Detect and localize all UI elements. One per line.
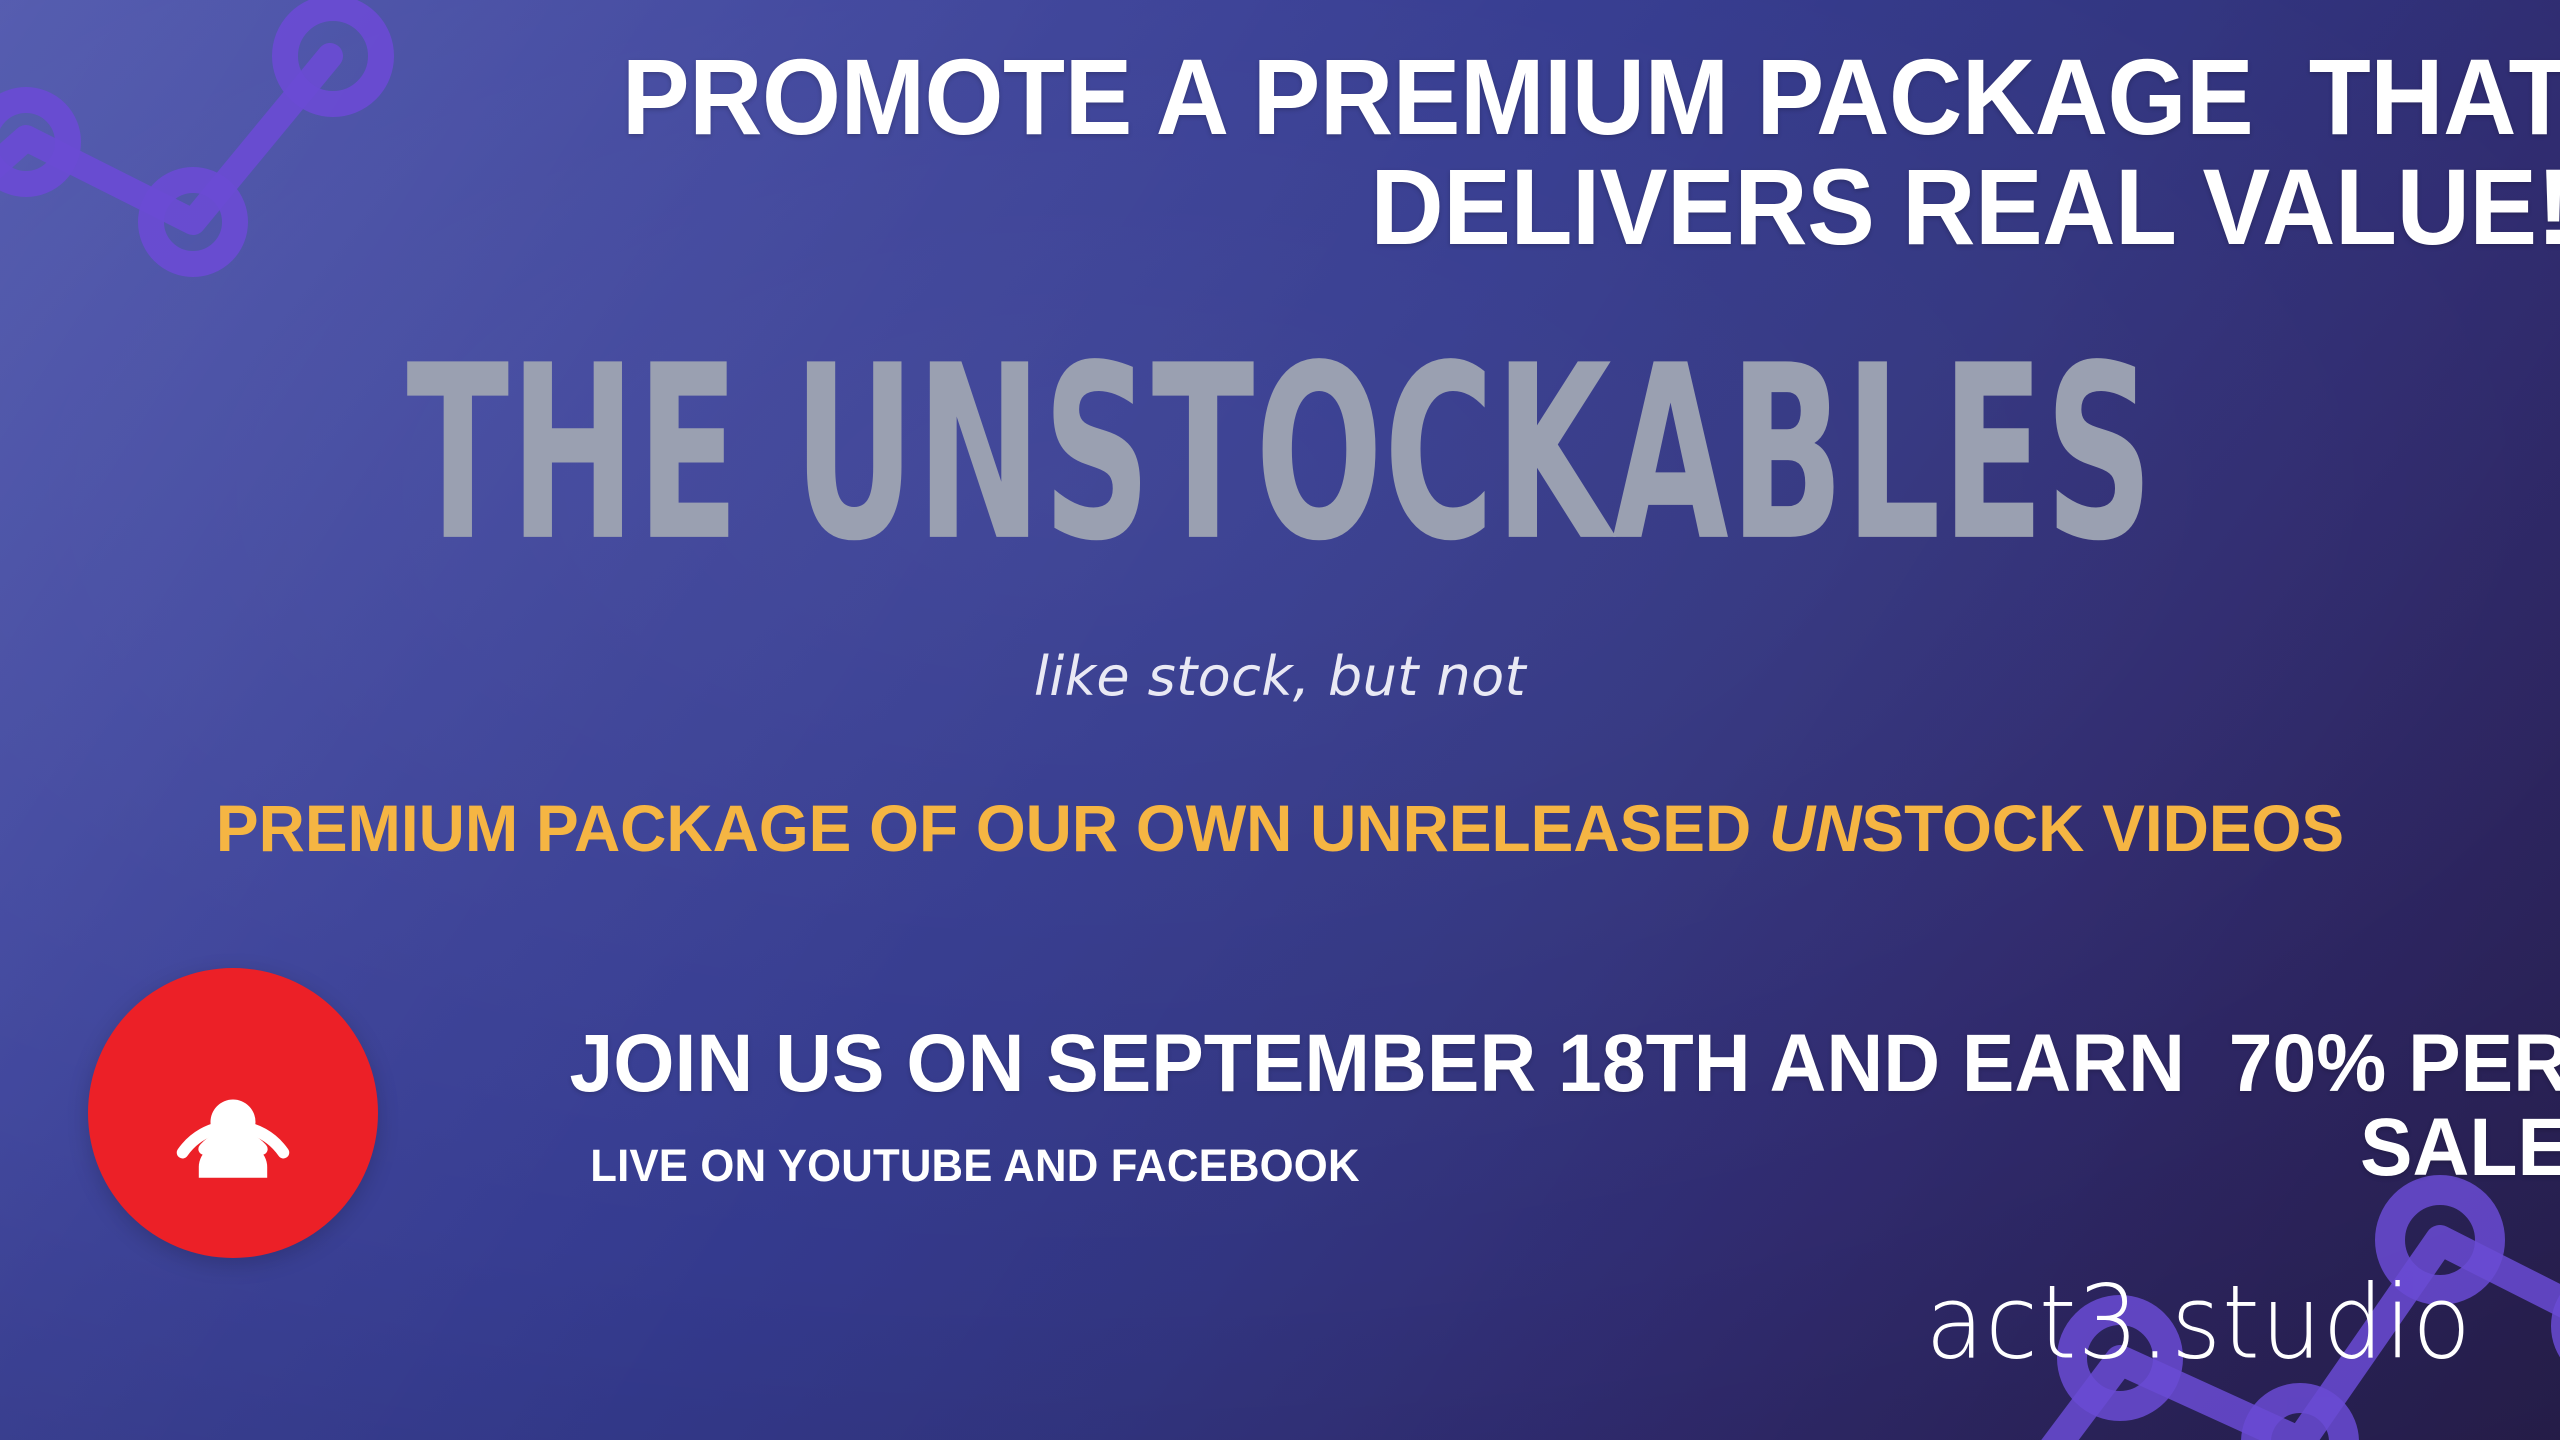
promo-banner: PROMOTE A PREMIUM PACKAGE THAT DELIVERS … [0,0,2560,1440]
cta-subline: LIVE ON YOUTUBE AND FACEBOOK [446,1140,1503,1192]
studio-logo: act3.studio [1925,1263,2472,1382]
brand-tagline-container: like stock, but not [0,645,2560,708]
live-broadcast-badge [88,968,378,1258]
brand-wordmark: THE UNSTOCKABLES [406,343,2154,565]
pitch-prefix: PREMIUM PACKAGE OF OUR OWN UNRELEASED [216,791,1769,865]
cta-line-1: JOIN US ON SEPTEMBER 18TH AND EARN 70% P… [516,1022,2560,1106]
headline-line-1: PROMOTE A PREMIUM PACKAGE THAT [436,42,2560,152]
pitch-italic-un: UN [1769,791,1861,865]
brand-wordmark-container: THE UNSTOCKABLES [0,355,2560,553]
brand-tagline: like stock, but not [1034,645,1526,708]
pitch-suffix: STOCK VIDEOS [1861,791,2344,865]
pitch-line: PREMIUM PACKAGE OF OUR OWN UNRELEASED UN… [38,790,2521,866]
headline: PROMOTE A PREMIUM PACKAGE THAT DELIVERS … [436,42,2560,262]
headline-line-2: DELIVERS REAL VALUE! [436,152,2560,262]
live-broadcast-person-icon [143,1023,323,1203]
